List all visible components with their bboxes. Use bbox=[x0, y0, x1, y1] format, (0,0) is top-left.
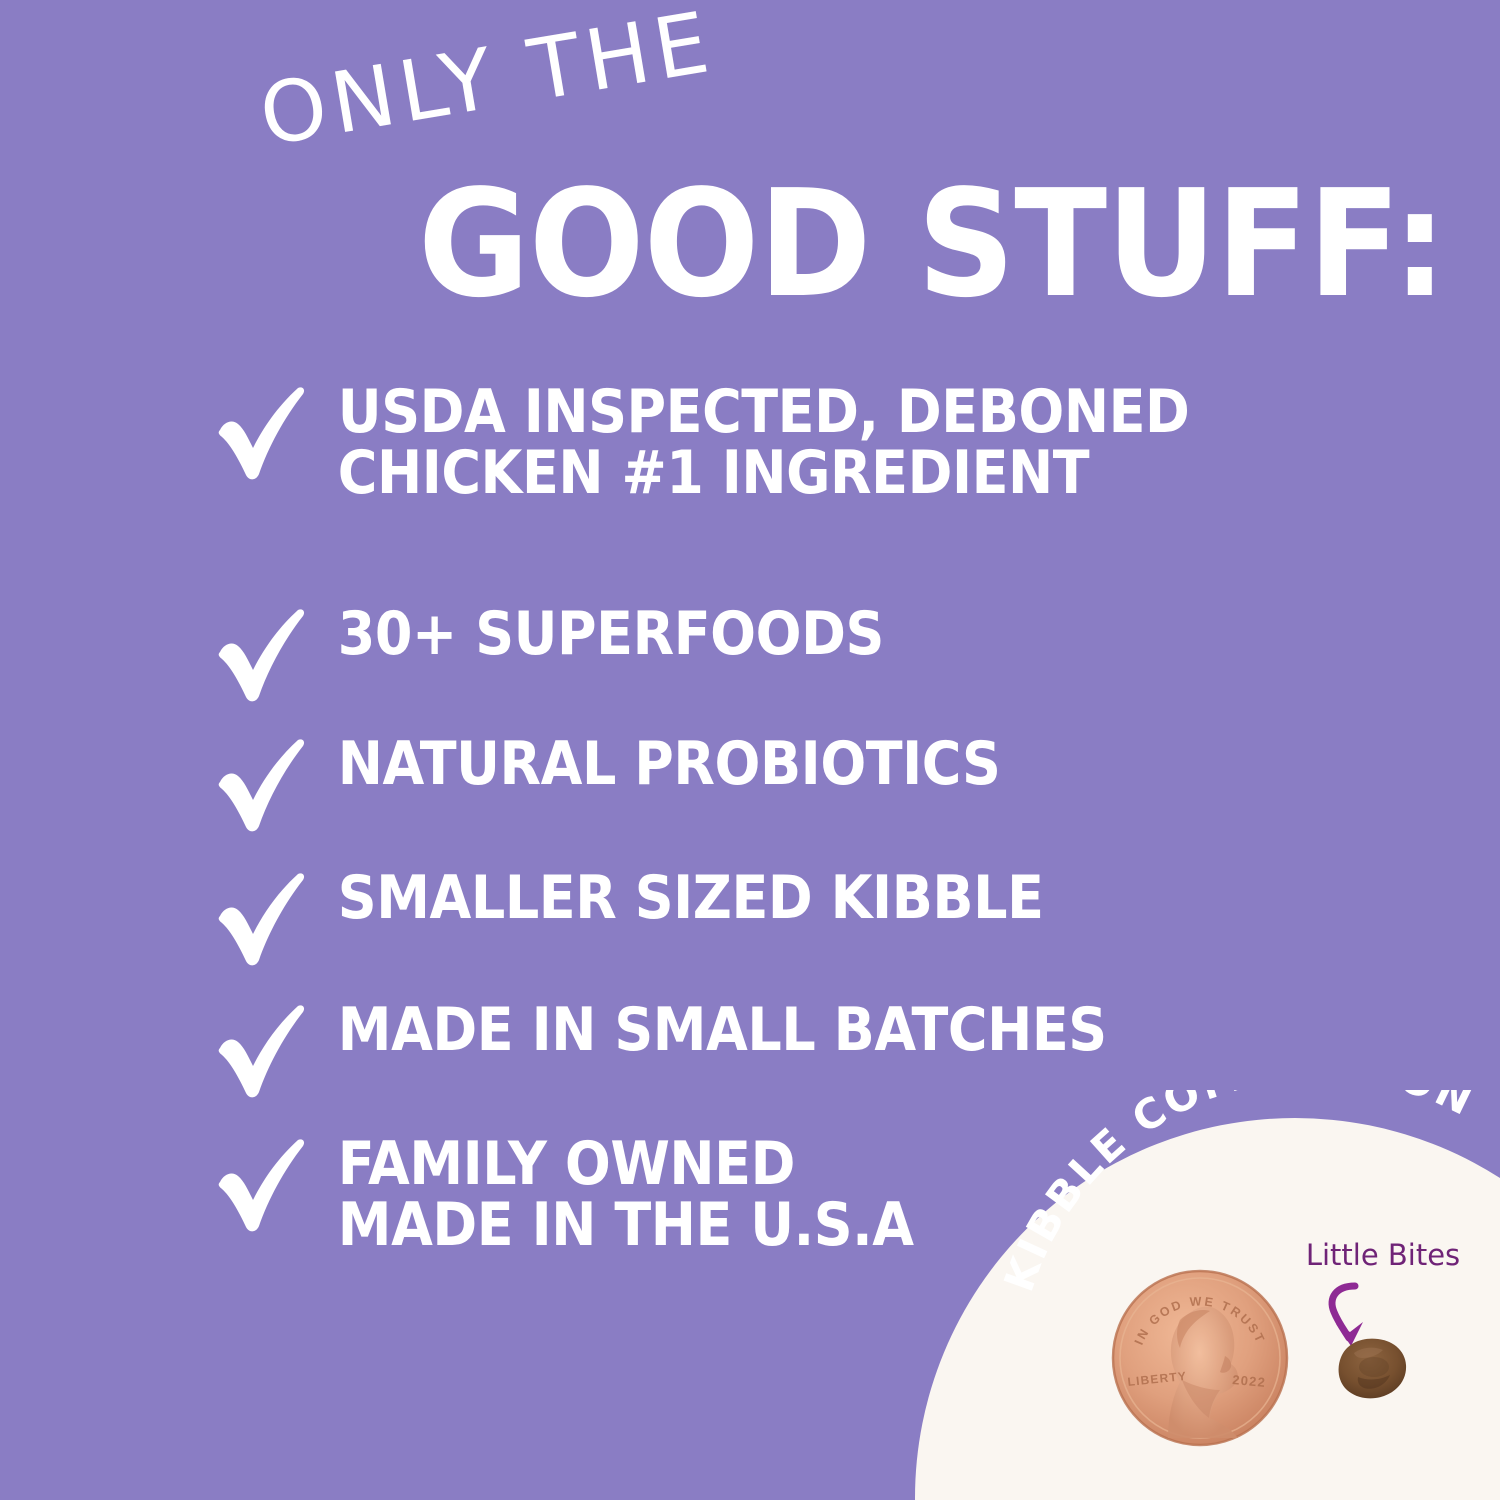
headline-line-1: ONLY THE bbox=[254, 0, 720, 158]
list-item-label: NATURAL PROBIOTICS bbox=[318, 734, 1000, 795]
penny-coin-icon: IN GOD WE TRUST LIBERTY 2022 bbox=[1110, 1268, 1290, 1448]
checkmark-icon bbox=[214, 738, 318, 834]
list-item-label: MADE IN SMALL BATCHES bbox=[318, 1000, 1107, 1061]
list-item: USDA INSPECTED, DEBONED CHICKEN #1 INGRE… bbox=[214, 382, 1286, 504]
list-item: FAMILY OWNED MADE IN THE U.S.A bbox=[214, 1134, 980, 1256]
list-item-label: 30+ SUPERFOODS bbox=[318, 604, 884, 665]
list-item: 30+ SUPERFOODS bbox=[214, 604, 947, 704]
list-item: NATURAL PROBIOTICS bbox=[214, 734, 1076, 834]
checkmark-icon bbox=[214, 386, 318, 482]
checkmark-icon bbox=[214, 872, 318, 968]
checkmark-icon bbox=[214, 608, 318, 704]
little-bites-callout: Little Bites bbox=[1288, 1238, 1478, 1438]
list-item-label: USDA INSPECTED, DEBONED CHICKEN #1 INGRE… bbox=[318, 382, 1189, 504]
checkmark-icon bbox=[214, 1138, 318, 1234]
list-item-label: SMALLER SIZED KIBBLE bbox=[318, 868, 1044, 929]
kibble-piece-icon bbox=[1328, 1333, 1410, 1403]
list-item-label: FAMILY OWNED MADE IN THE U.S.A bbox=[318, 1134, 914, 1256]
checkmark-icon bbox=[214, 1004, 318, 1100]
poster-canvas: ONLY THE GOOD STUFF: USDA INSPECTED, DEB… bbox=[0, 0, 1500, 1500]
list-item: MADE IN SMALL BATCHES bbox=[214, 1000, 1194, 1100]
list-item: SMALLER SIZED KIBBLE bbox=[214, 868, 1124, 968]
penny-year: 2022 bbox=[1232, 1372, 1267, 1390]
headline: ONLY THE GOOD STUFF: bbox=[0, 0, 1500, 340]
little-bites-label: Little Bites bbox=[1288, 1238, 1478, 1272]
headline-line-2: GOOD STUFF: bbox=[418, 170, 1446, 318]
